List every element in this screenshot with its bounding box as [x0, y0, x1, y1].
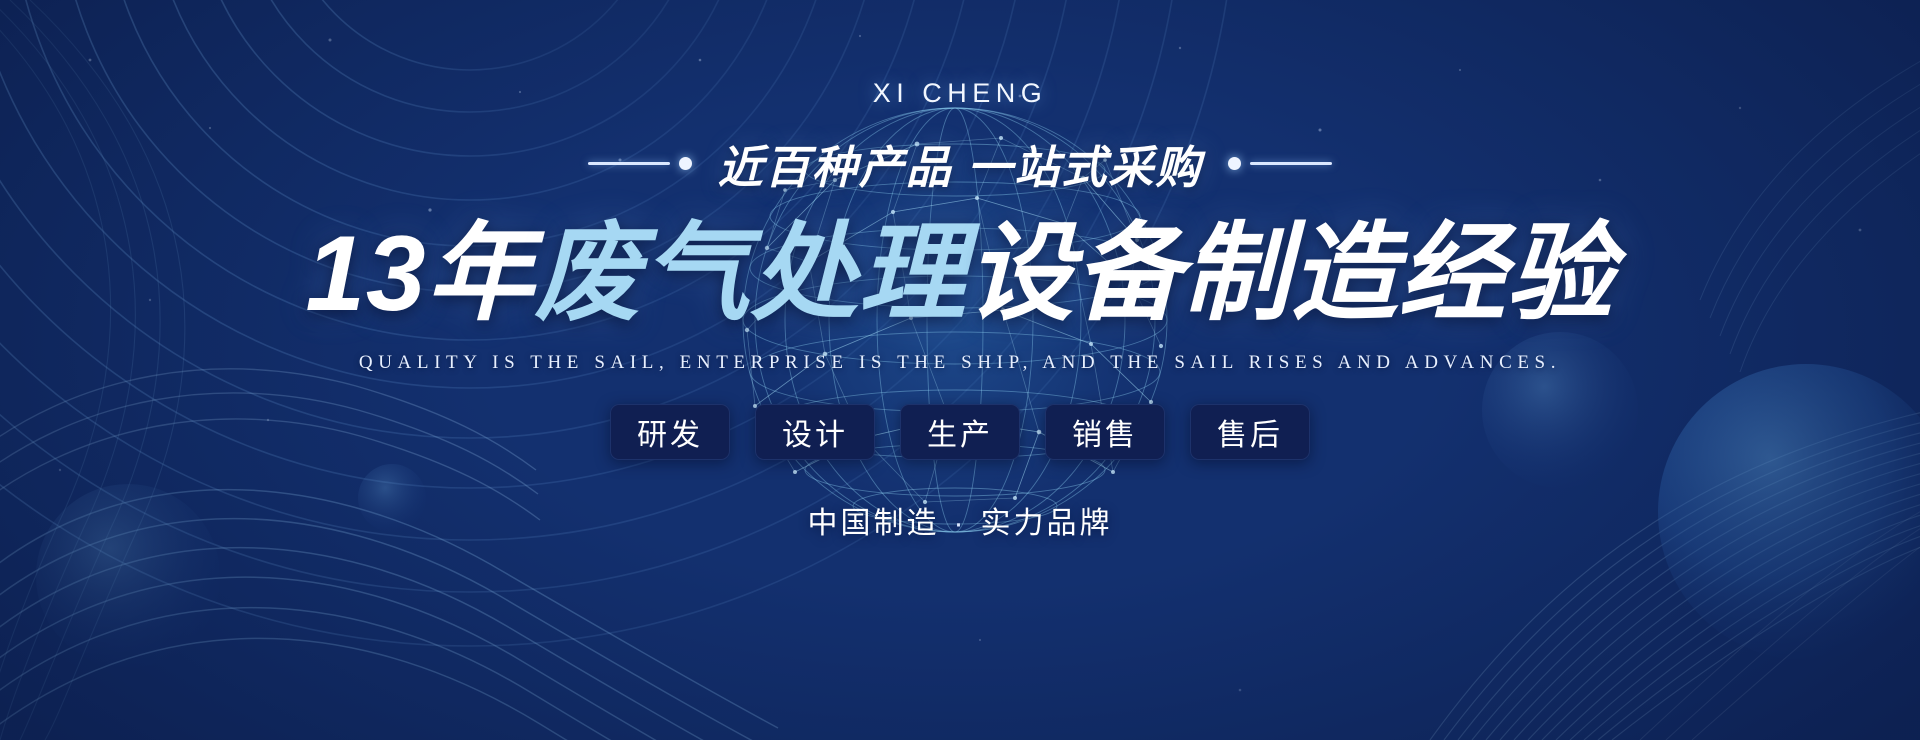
subtitle-row: 近百种产品 一站式采购	[588, 131, 1333, 196]
service-tag-rd[interactable]: 研发	[610, 404, 730, 460]
hero-banner: XI CHENG 近百种产品 一站式采购 13年废气处理设备制造经验 QUALI…	[0, 0, 1920, 740]
line-dot-left-icon	[588, 157, 692, 170]
brand-name: XI CHENG	[873, 78, 1048, 109]
english-tagline: QUALITY IS THE SAIL, ENTERPRISE IS THE S…	[359, 352, 1561, 374]
service-tag-aftersales[interactable]: 售后	[1190, 404, 1310, 460]
line-dot-right-icon	[1228, 157, 1332, 170]
service-tag-list: 研发 设计 生产 销售 售后	[610, 404, 1310, 460]
headline-part-3: 设备制造经验	[967, 213, 1615, 333]
service-tag-design[interactable]: 设计	[755, 404, 875, 460]
subtitle-text: 近百种产品 一站式采购	[718, 131, 1203, 196]
footer-slogan: 中国制造·实力品牌	[808, 498, 1113, 542]
footer-slogan-right: 实力品牌	[981, 507, 1113, 540]
service-tag-sales[interactable]: 销售	[1045, 404, 1165, 460]
service-tag-production[interactable]: 生产	[900, 404, 1020, 460]
footer-separator: ·	[940, 507, 981, 540]
headline-part-2: 废气处理	[535, 213, 967, 333]
headline-part-1: 13年	[305, 213, 534, 333]
banner-content: XI CHENG 近百种产品 一站式采购 13年废气处理设备制造经验 QUALI…	[0, 0, 1920, 740]
headline: 13年废气处理设备制造经验	[305, 216, 1614, 332]
footer-slogan-left: 中国制造	[808, 507, 940, 540]
